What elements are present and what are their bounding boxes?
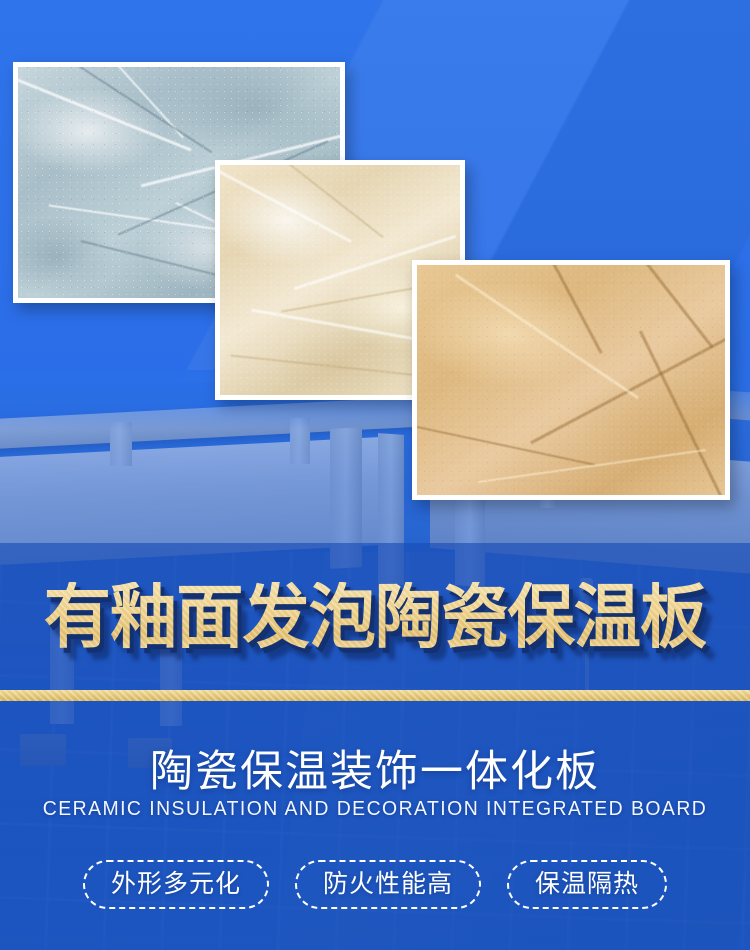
page-title: 有釉面发泡陶瓷保温板 <box>44 582 706 652</box>
main-title-container: 有釉面发泡陶瓷保温板 <box>0 582 750 652</box>
tan-marble-tile[interactable] <box>412 260 730 500</box>
feature-badge-list: 外形多元化 防火性能高 保温隔热 <box>0 860 750 909</box>
tile-texture-tan <box>417 265 725 495</box>
feature-badge-fire-resistance[interactable]: 防火性能高 <box>295 860 481 909</box>
feature-badge-shape-diversity[interactable]: 外形多元化 <box>83 860 269 909</box>
subtitle-english: CERAMIC INSULATION AND DECORATION INTEGR… <box>11 798 739 821</box>
subtitle-chinese: 陶瓷保温装饰一体化板 <box>0 737 750 799</box>
gold-divider <box>0 690 750 701</box>
feature-badge-thermal-insulation[interactable]: 保温隔热 <box>507 860 667 909</box>
product-banner: 有釉面发泡陶瓷保温板 陶瓷保温装饰一体化板 CERAMIC INSULATION… <box>0 0 750 950</box>
tile-grain <box>417 265 725 495</box>
